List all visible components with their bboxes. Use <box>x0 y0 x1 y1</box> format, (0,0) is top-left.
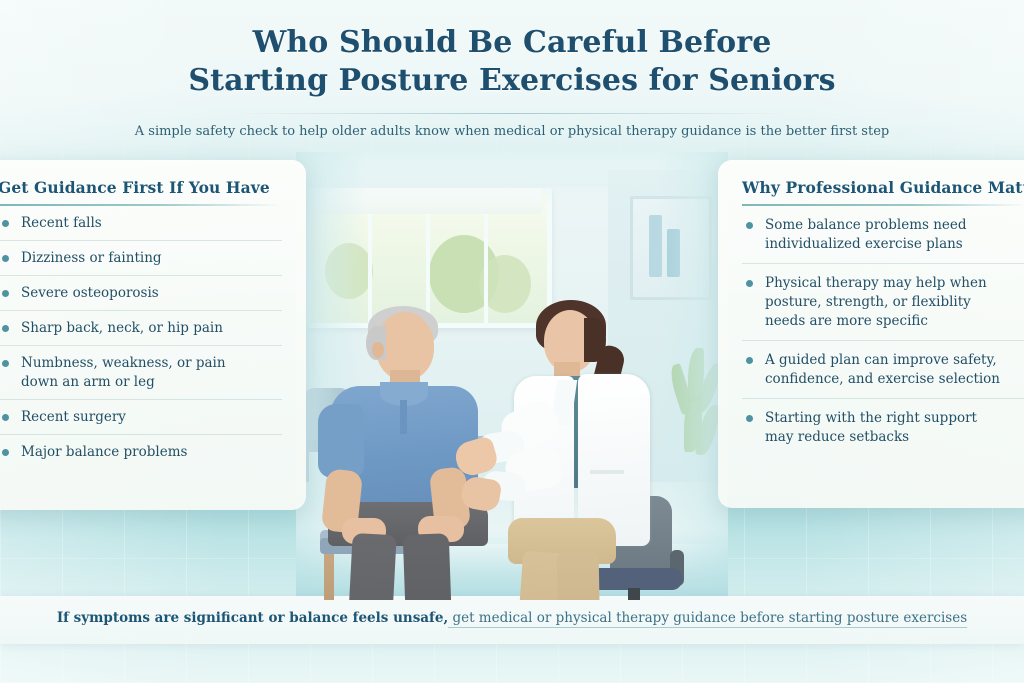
footer-lead-text: If symptoms are significant or balance f… <box>57 610 448 626</box>
right-card-list: Some balance problems need individualize… <box>742 206 1024 456</box>
list-item-label: Dizziness or fainting <box>21 249 162 268</box>
list-item: Recent surgery <box>0 399 282 434</box>
list-item: Starting with the right support may redu… <box>742 398 1024 456</box>
card-why-professional-guidance: Why Professional Guidance Matters Some b… <box>718 160 1024 508</box>
bullet-icon <box>2 360 9 367</box>
list-item-label: A guided plan can improve safety, confid… <box>765 351 1011 389</box>
bullet-icon <box>2 290 9 297</box>
list-item: Major balance problems <box>0 434 282 469</box>
list-item: Some balance problems need individualize… <box>742 206 1024 263</box>
header: Who Should Be Careful Before Starting Po… <box>0 0 1024 141</box>
left-card-list: Recent falls Dizziness or fainting Sever… <box>0 206 282 469</box>
bullet-icon <box>746 280 753 287</box>
list-item-label: Sharp back, neck, or hip pain <box>21 319 223 338</box>
page-subtitle: A simple safety check to help older adul… <box>0 123 1024 141</box>
bullet-icon <box>2 325 9 332</box>
list-item: Recent falls <box>0 206 282 240</box>
bullet-icon <box>746 357 753 364</box>
list-item: Numbness, weakness, or pain down an arm … <box>0 345 282 399</box>
list-item-label: Numbness, weakness, or pain down an arm … <box>21 354 251 392</box>
infographic-root: Who Should Be Careful Before Starting Po… <box>0 0 1024 683</box>
page-title: Who Should Be Careful Before Starting Po… <box>0 24 1024 100</box>
list-item-label: Recent falls <box>21 214 102 233</box>
bullet-icon <box>2 255 9 262</box>
left-card-title: Get Guidance First If You Have <box>0 178 282 197</box>
clinic-illustration <box>296 152 728 600</box>
title-divider <box>232 113 792 114</box>
list-item: Physical therapy may help when posture, … <box>742 263 1024 340</box>
bullet-icon <box>746 222 753 229</box>
list-item-label: Major balance problems <box>21 443 187 462</box>
list-item: A guided plan can improve safety, confid… <box>742 340 1024 398</box>
list-item-label: Severe osteoporosis <box>21 284 159 303</box>
card-get-guidance-first: Get Guidance First If You Have Recent fa… <box>0 160 306 510</box>
title-line-2: Starting Posture Exercises for Seniors <box>0 62 1024 100</box>
list-item: Sharp back, neck, or hip pain <box>0 310 282 345</box>
bullet-icon <box>2 414 9 421</box>
footer-rest-text: get medical or physical therapy guidance… <box>448 610 967 628</box>
bullet-icon <box>2 449 9 456</box>
title-line-1: Who Should Be Careful Before <box>0 24 1024 62</box>
list-item-label: Some balance problems need individualize… <box>765 216 1011 254</box>
doctor-figure <box>492 300 692 600</box>
right-card-title: Why Professional Guidance Matters <box>742 178 1024 197</box>
list-item: Dizziness or fainting <box>0 240 282 275</box>
bullet-icon <box>746 415 753 422</box>
bullet-icon <box>2 220 9 227</box>
list-item-label: Physical therapy may help when posture, … <box>765 274 1013 331</box>
list-item: Severe osteoporosis <box>0 275 282 310</box>
list-item-label: Starting with the right support may redu… <box>765 409 993 447</box>
list-item-label: Recent surgery <box>21 408 126 427</box>
footer-note: If symptoms are significant or balance f… <box>0 608 1024 628</box>
